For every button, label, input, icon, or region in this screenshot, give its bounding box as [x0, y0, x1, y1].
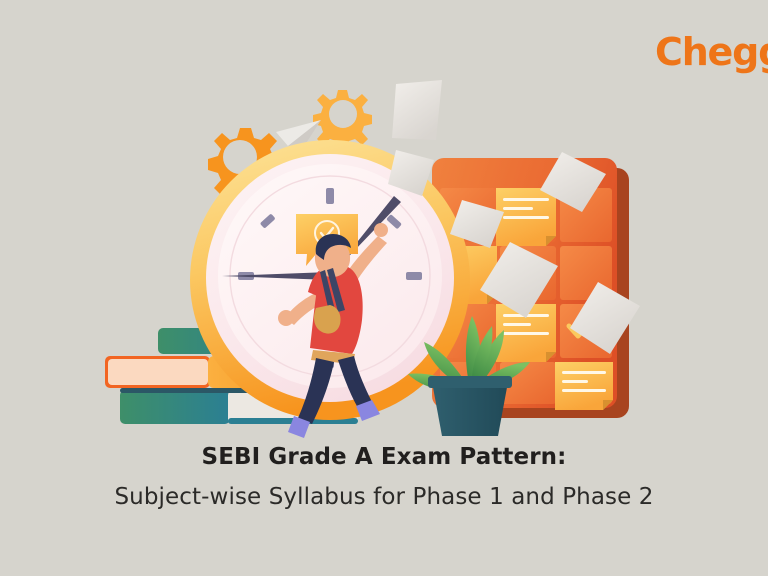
chegg-logo[interactable]: Chegg — [655, 33, 768, 71]
sticky-note — [555, 362, 613, 410]
page-subtitle: Subject-wise Syllabus for Phase 1 and Ph… — [0, 483, 768, 512]
sticky-note — [496, 188, 556, 246]
page-title: SEBI Grade A Exam Pattern: — [0, 443, 768, 472]
gear-small-icon — [313, 90, 372, 149]
title-block: SEBI Grade A Exam Pattern: Subject-wise … — [0, 443, 768, 512]
promo-banner: Chegg — [0, 0, 768, 576]
exam-illustration — [80, 70, 680, 440]
